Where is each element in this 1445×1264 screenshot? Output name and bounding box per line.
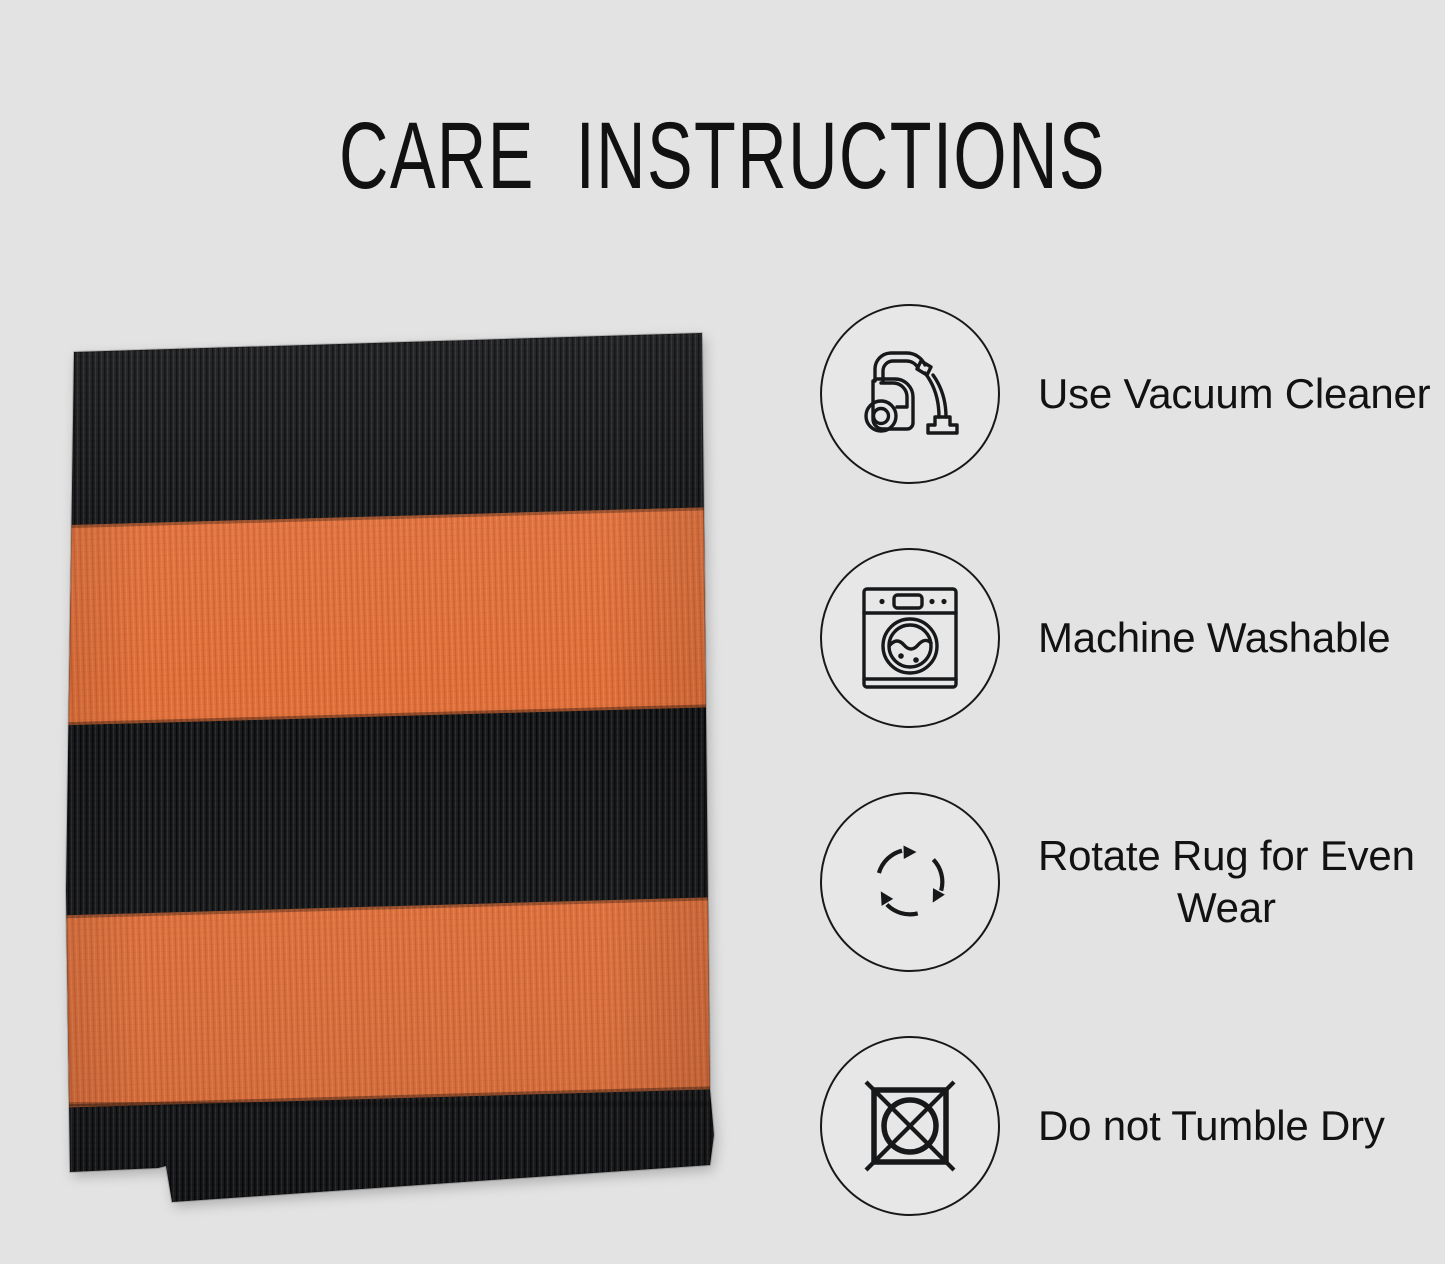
care-item-label-line-1: Rotate Rug for Even <box>1038 830 1415 882</box>
rug-stripes <box>62 330 732 1210</box>
care-item-label-no-tumble-dry: Do not Tumble Dry <box>1038 1100 1385 1152</box>
rotate-arrows-glyph <box>854 826 966 938</box>
care-item-label-line-2: Wear <box>1038 882 1415 934</box>
washing-machine-icon <box>820 548 1000 728</box>
care-item-no-tumble-dry: Do not Tumble Dry <box>820 1028 1440 1224</box>
care-item-rotate-rug: Rotate Rug for Even Wear <box>820 784 1440 980</box>
washing-machine-glyph <box>854 579 966 697</box>
care-item-label-rotate-rug: Rotate Rug for Even Wear <box>1038 830 1415 934</box>
folded-striped-rug-image <box>62 330 732 1210</box>
rotate-arrows-icon <box>820 792 1000 972</box>
care-instructions-list: Use Vacuum Cleaner <box>820 296 1440 1224</box>
care-item-machine-washable: Machine Washable <box>820 540 1440 736</box>
care-item-vacuum: Use Vacuum Cleaner <box>820 296 1440 492</box>
page-title: CARE INSTRUCTIONS <box>202 104 1242 208</box>
do-not-tumble-dry-glyph <box>854 1070 966 1182</box>
vacuum-cleaner-glyph <box>851 335 969 453</box>
product-image-container <box>62 330 732 1210</box>
care-item-label-vacuum: Use Vacuum Cleaner <box>1038 368 1430 420</box>
care-instructions-page: CARE INSTRUCTIONS <box>0 0 1445 1264</box>
care-item-label-machine-washable: Machine Washable <box>1038 612 1390 664</box>
do-not-tumble-dry-icon <box>820 1036 1000 1216</box>
vacuum-cleaner-icon <box>820 304 1000 484</box>
